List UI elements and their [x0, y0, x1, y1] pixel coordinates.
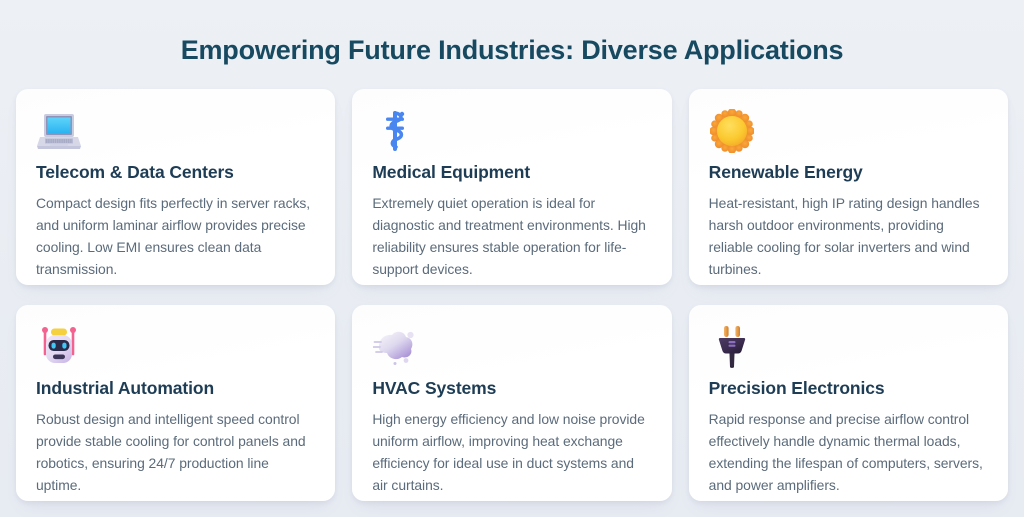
card-description: Rapid response and precise airflow contr…: [709, 409, 988, 497]
card-title: Medical Equipment: [372, 162, 651, 184]
card-description: High energy efficiency and low noise pro…: [372, 409, 651, 497]
electric-plug-icon: [709, 324, 755, 370]
card-precision-electronics[interactable]: Precision Electronics Rapid response and…: [689, 305, 1008, 501]
card-title: Renewable Energy: [709, 162, 988, 184]
card-hvac-systems[interactable]: HVAC Systems High energy efficiency and …: [352, 305, 671, 501]
application-card-grid: Telecom & Data Centers Compact design fi…: [16, 89, 1008, 501]
card-title: HVAC Systems: [372, 378, 651, 400]
card-telecom-data-centers[interactable]: Telecom & Data Centers Compact design fi…: [16, 89, 335, 285]
card-title: Precision Electronics: [709, 378, 988, 400]
card-description: Compact design fits perfectly in server …: [36, 193, 315, 281]
card-title: Industrial Automation: [36, 378, 315, 400]
card-description: Extremely quiet operation is ideal for d…: [372, 193, 651, 281]
card-description: Robust design and intelligent speed cont…: [36, 409, 315, 497]
card-renewable-energy[interactable]: Renewable Energy Heat-resistant, high IP…: [689, 89, 1008, 285]
sun-icon: [709, 108, 755, 154]
card-medical-equipment[interactable]: Medical Equipment Extremely quiet operat…: [352, 89, 671, 285]
medical-rod-icon: [372, 108, 418, 154]
applications-section: Empowering Future Industries: Diverse Ap…: [0, 0, 1024, 517]
card-title: Telecom & Data Centers: [36, 162, 315, 184]
wind-dash-icon: [372, 324, 418, 370]
card-industrial-automation[interactable]: Industrial Automation Robust design and …: [16, 305, 335, 501]
robot-icon: [36, 324, 82, 370]
page-title: Empowering Future Industries: Diverse Ap…: [16, 0, 1008, 66]
laptop-icon: [36, 108, 82, 154]
card-description: Heat-resistant, high IP rating design ha…: [709, 193, 988, 281]
